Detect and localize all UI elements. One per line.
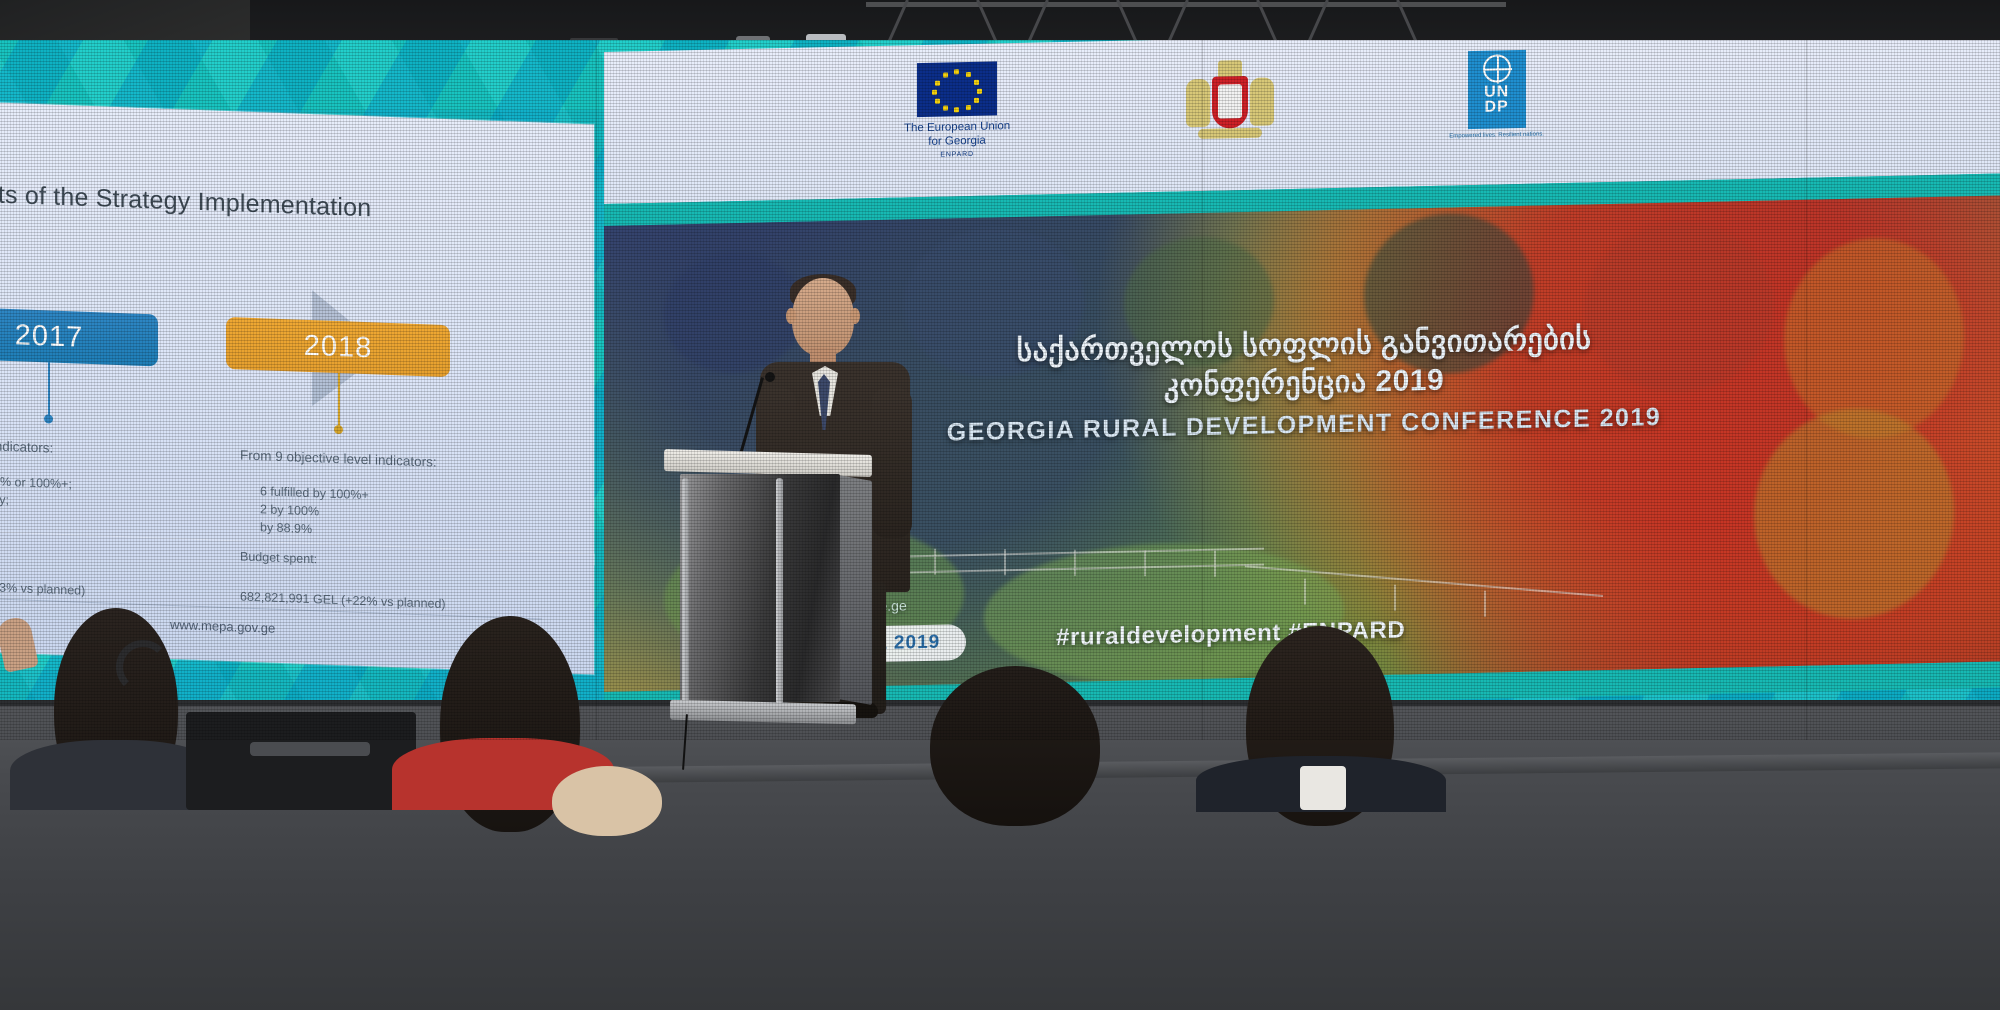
chair-back (186, 712, 416, 810)
lectern-rail (776, 478, 783, 704)
speaker-ear (786, 308, 796, 324)
conference-scene: ults of the Strategy Implementation 2017… (0, 0, 2000, 1010)
undp-letters: UNDP (1484, 85, 1509, 115)
right-bullet-2: 2 by 100% (260, 502, 319, 518)
audience-head (930, 666, 1100, 826)
right-bullet-3: by 88.9% (260, 520, 312, 536)
speaker-ear (850, 308, 860, 324)
audience-shirt-collar (1300, 766, 1346, 810)
speaker-head (792, 278, 854, 356)
left-bullet-heading: r level indicators: (0, 437, 53, 456)
year-chip-2018: 2018 (226, 317, 450, 377)
budget-value-left: EL (+38.3% vs planned) (0, 579, 85, 598)
coat-of-arms-icon (1182, 55, 1278, 161)
eu-flag-logo: The European Union for Georgia ENPARD (904, 61, 1010, 159)
undp-icon: UNDP (1468, 50, 1526, 129)
lectern-rail (682, 478, 689, 704)
headset-icon (116, 640, 170, 694)
lectern-top (664, 449, 872, 477)
connector-dot-2018 (334, 425, 343, 434)
undp-tagline: Empowered lives. Resilient nations. (1449, 131, 1544, 140)
lectern-base (670, 700, 856, 725)
logo-row: The European Union for Georgia ENPARD (904, 49, 1544, 179)
speaker-right-arm (872, 388, 912, 538)
connector-dot-2017 (44, 414, 53, 423)
lectern-side-panel (838, 475, 872, 705)
right-bullet-heading: From 9 objective level indicators: (240, 447, 437, 469)
connector-line-2017 (48, 362, 50, 418)
left-bullet-2: d partially; (0, 491, 9, 507)
audience-head (552, 766, 662, 836)
undp-logo: UNDP Empowered lives. Resilient nations. (1449, 49, 1544, 140)
left-bullet-1: d by 100% or 100%+; (0, 473, 72, 491)
lectern (664, 452, 872, 734)
budget-label: Budget spent: (240, 549, 317, 566)
georgia-coat-of-arms-logo (1182, 55, 1278, 161)
slide-website: www.mepa.gov.ge (170, 617, 275, 636)
chair-rail (250, 742, 370, 756)
eu-flag-icon (917, 61, 997, 117)
microphone-icon (765, 372, 775, 382)
connector-line-2018 (338, 373, 340, 429)
eu-caption-line1: The European Union (904, 119, 1010, 136)
right-bullet-1: 6 fulfilled by 100%+ (260, 484, 369, 502)
left-presentation-slide: ults of the Strategy Implementation 2017… (0, 102, 594, 564)
eu-caption-line2: for Georgia (904, 134, 1010, 151)
enpard-label: ENPARD (904, 150, 1010, 159)
led-video-wall: ults of the Strategy Implementation 2017… (0, 40, 2000, 740)
lectern-front-panel (680, 474, 840, 702)
year-chip-2017: 2017 (0, 306, 158, 366)
slide-title: ults of the Strategy Implementation (0, 180, 371, 223)
